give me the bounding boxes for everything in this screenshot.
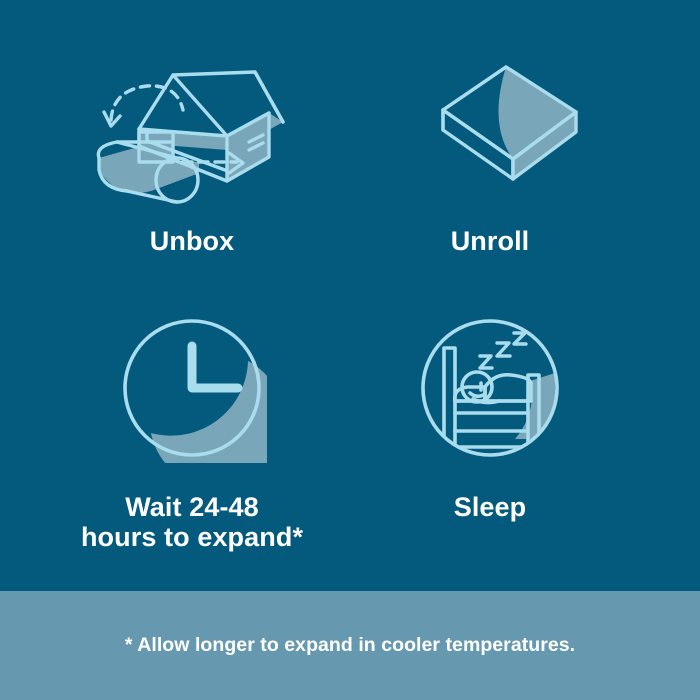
person-sleeping-in-bed-icon	[415, 313, 565, 463]
unroll-icon-wrap	[340, 50, 640, 210]
footer-note: * Allow longer to expand in cooler tempe…	[125, 634, 575, 657]
step-wait-label-line1: Wait 24-48	[42, 492, 342, 522]
flat-mattress-icon	[380, 55, 600, 205]
step-wait: Wait 24-48 hours to expand*	[42, 305, 342, 552]
step-unbox: Unbox	[42, 50, 342, 256]
step-unbox-label: Unbox	[42, 226, 342, 256]
step-unroll: Unroll	[340, 50, 640, 256]
mattress-setup-infographic: Unbox Unroll	[0, 0, 700, 700]
open-box-with-rolled-mattress-icon	[77, 50, 307, 210]
sleep-icon-wrap	[340, 305, 640, 470]
step-wait-label: Wait 24-48 hours to expand*	[42, 492, 342, 552]
wait-icon-wrap	[42, 305, 342, 470]
step-wait-label-line2: hours to expand*	[42, 522, 342, 552]
footer-band: * Allow longer to expand in cooler tempe…	[0, 591, 700, 700]
step-sleep: Sleep	[340, 305, 640, 522]
steps-area: Unbox Unroll	[0, 0, 700, 591]
unbox-icon-wrap	[42, 50, 342, 210]
clock-icon	[117, 313, 267, 463]
step-sleep-label: Sleep	[340, 492, 640, 522]
step-unroll-label: Unroll	[340, 226, 640, 256]
